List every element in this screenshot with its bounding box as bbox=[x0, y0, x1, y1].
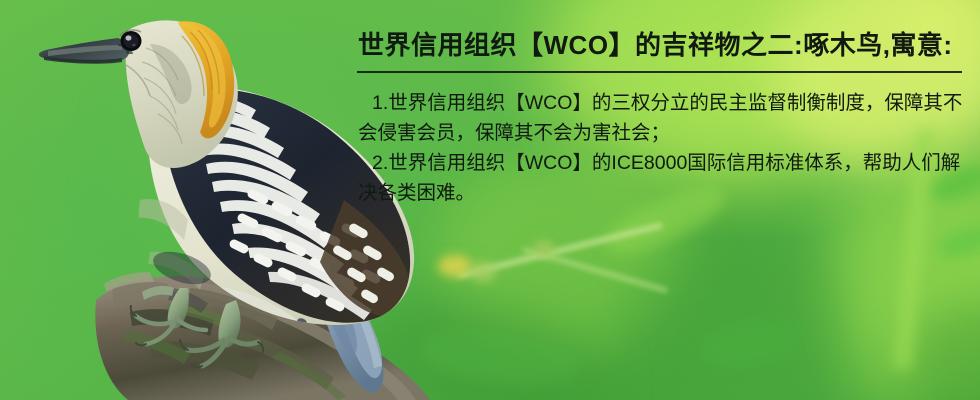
list-item: 2.世界信用组织【WCO】的ICE8000国际信用标准体系，帮助人们解决各类困难… bbox=[358, 148, 972, 208]
mascot-meaning-list: 1.世界信用组织【WCO】的三权分立的民主监督制衡制度，保障其不会侵害会员，保障… bbox=[358, 88, 972, 208]
list-item: 1.世界信用组织【WCO】的三权分立的民主监督制衡制度，保障其不会侵害会员，保障… bbox=[358, 88, 972, 148]
title-divider bbox=[357, 71, 962, 73]
woodpecker-head bbox=[39, 20, 238, 168]
page-title: 世界信用组织【WCO】的吉祥物之二:啄木鸟,寓意: bbox=[358, 28, 972, 62]
text-panel: 世界信用组织【WCO】的吉祥物之二:啄木鸟,寓意: 1.世界信用组织【WCO】的… bbox=[352, 0, 972, 400]
wco-woodpecker-banner: 世界信用组织【WCO】的吉祥物之二:啄木鸟,寓意: 1.世界信用组织【WCO】的… bbox=[0, 0, 980, 400]
